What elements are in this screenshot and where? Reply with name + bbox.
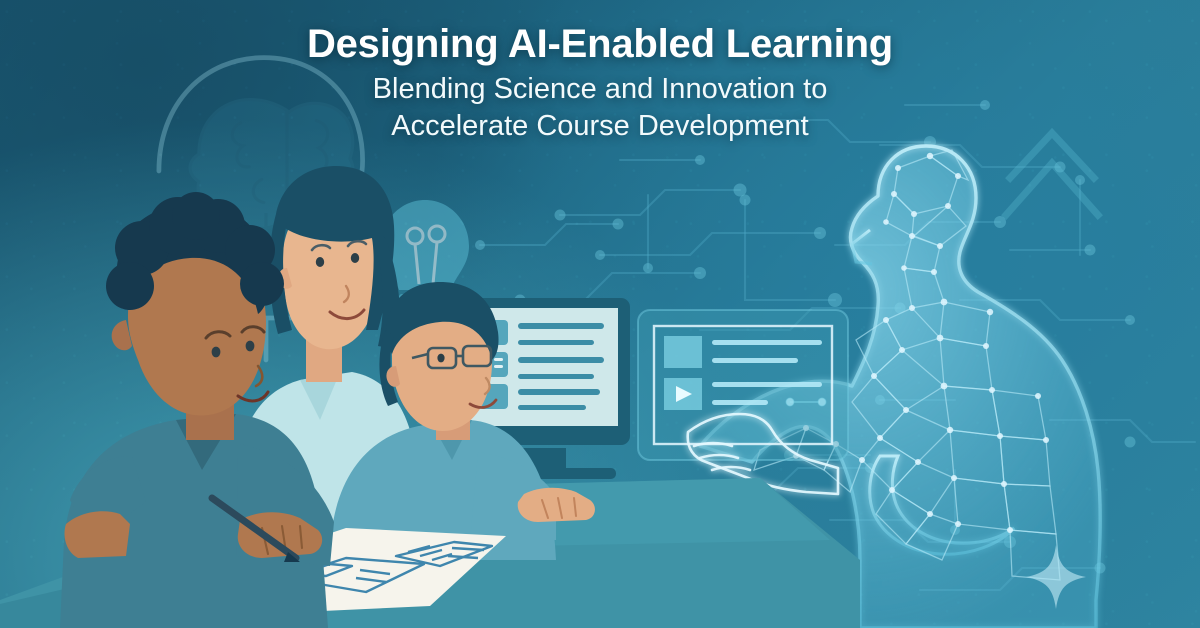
promo-banner: Designing AI-Enabled Learning Blending S… [0,0,1200,628]
workspace-scene [0,0,1200,628]
